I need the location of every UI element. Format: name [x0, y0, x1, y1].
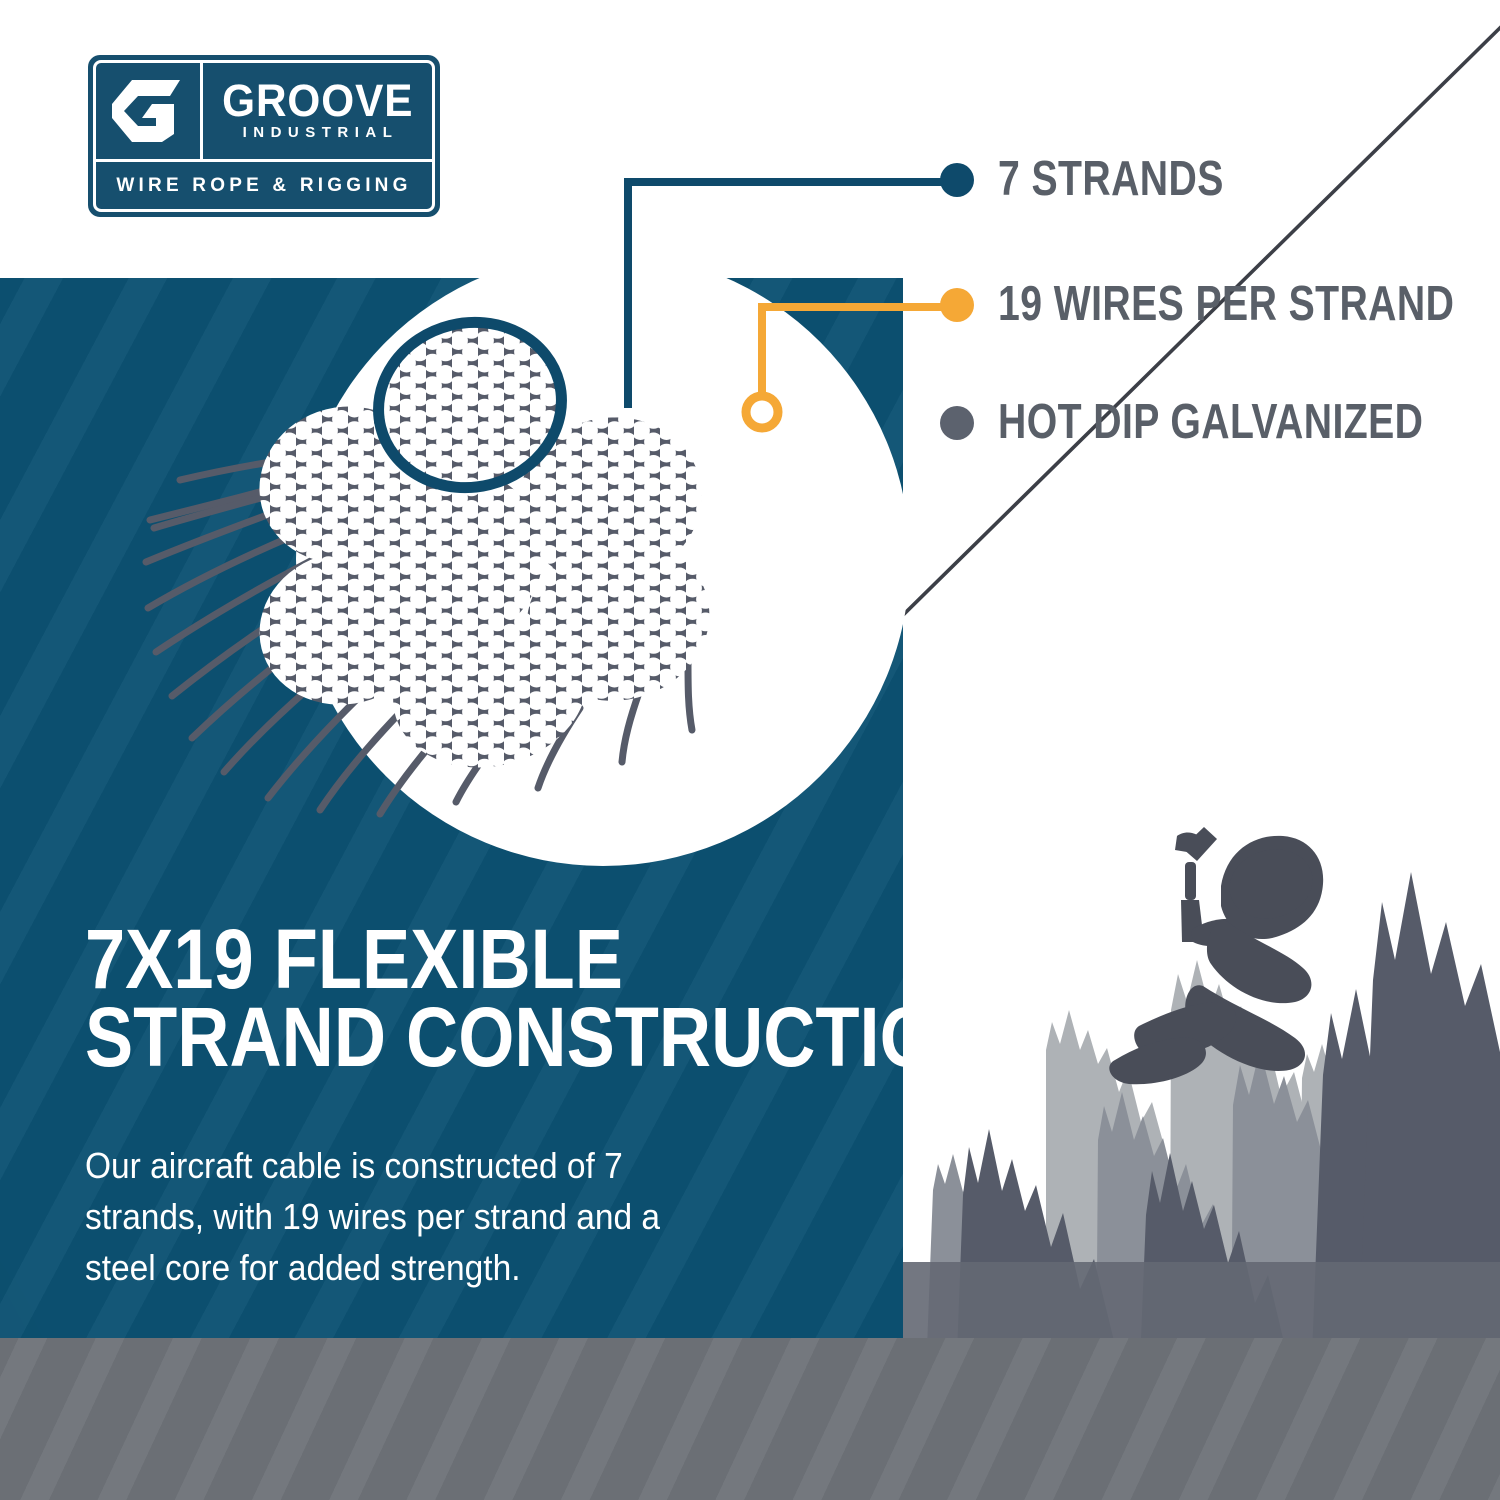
headline-line-2: STRAND CONSTRUCTION — [85, 998, 764, 1076]
callout-label: HOT DIP GALVANIZED — [998, 398, 1423, 447]
logo-brand-name: GROOVE — [222, 81, 413, 121]
bullet-dot-icon — [940, 288, 974, 322]
callout-label: 19 WIRES PER STRAND — [998, 280, 1454, 329]
logo-inner-frame: GROOVE INDUSTRIAL WIRE ROPE & RIGGING — [93, 60, 435, 212]
infographic-canvas: 7 STRANDS 19 WIRES PER STRAND HOT DIP GA… — [0, 0, 1500, 1500]
bottom-gray-bar — [0, 1338, 1500, 1500]
logo-brand-subtitle: INDUSTRIAL — [243, 125, 399, 142]
callout-label: 7 STRANDS — [998, 155, 1224, 204]
bullet-dot-icon — [940, 163, 974, 197]
headline-line-1: 7X19 FLEXIBLE — [85, 920, 764, 998]
groove-g-monogram-icon — [96, 63, 203, 159]
callout-item-wires[interactable]: 19 WIRES PER STRAND — [940, 280, 1500, 329]
brand-logo[interactable]: GROOVE INDUSTRIAL WIRE ROPE & RIGGING — [88, 55, 440, 217]
logo-wordmark: GROOVE INDUSTRIAL — [203, 63, 432, 159]
wire-rope-cross-section-illustration — [140, 290, 880, 850]
callout-item-galvanized[interactable]: HOT DIP GALVANIZED — [940, 398, 1500, 447]
feature-body-text: Our aircraft cable is constructed of 7 s… — [85, 1140, 717, 1293]
callout-item-strands[interactable]: 7 STRANDS — [940, 155, 1280, 204]
logo-tagline: WIRE ROPE & RIGGING — [116, 175, 411, 197]
feature-headline: 7X19 FLEXIBLE STRAND CONSTRUCTION — [85, 920, 764, 1076]
logo-top-row: GROOVE INDUSTRIAL — [96, 63, 432, 162]
bullet-dot-icon — [940, 406, 974, 440]
logo-bottom-row: WIRE ROPE & RIGGING — [96, 162, 432, 209]
